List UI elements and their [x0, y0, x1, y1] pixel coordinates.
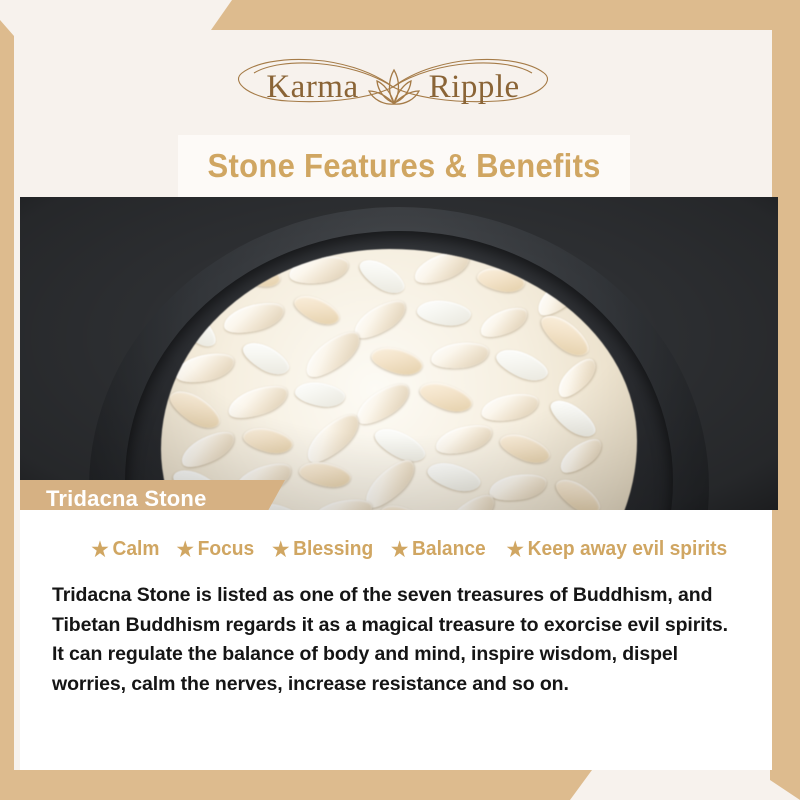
benefit-label: Balance — [412, 538, 486, 561]
frame-bottom-band — [0, 770, 800, 800]
star-icon: ★ — [391, 540, 408, 560]
lotus-icon — [363, 60, 425, 114]
stone-name-badge: Tridacna Stone — [20, 480, 285, 510]
logo-lockup: Karma Ripple — [266, 60, 519, 114]
benefit-label: Calm — [113, 538, 160, 561]
benefit-item: ★ Blessing — [272, 538, 373, 561]
benefit-item: ★ Focus — [177, 538, 255, 561]
benefit-label: Focus — [198, 538, 255, 561]
benefit-item: ★ Keep away evil spirits — [507, 538, 728, 561]
benefit-label: Blessing — [293, 538, 373, 561]
brand-name-right: Ripple — [429, 71, 520, 104]
brand-logo: Karma Ripple — [14, 48, 772, 126]
benefit-item: ★ Balance — [391, 538, 486, 561]
description-text: Tridacna Stone is listed as one of the s… — [42, 581, 750, 700]
star-icon: ★ — [507, 540, 524, 560]
benefit-label: Keep away evil spirits — [528, 538, 728, 561]
stone-name-label: Tridacna Stone — [46, 486, 207, 510]
page-title: Stone Features & Benefits — [207, 147, 600, 185]
content-panel: ★ Calm ★ Focus ★ Blessing ★ Balance ★ — [20, 510, 772, 770]
product-photo: Tridacna Stone — [20, 197, 778, 510]
brand-name-left: Karma — [266, 71, 358, 104]
benefit-item: ★ Calm — [92, 538, 160, 561]
benefits-row: ★ Calm ★ Focus ★ Blessing ★ Balance ★ — [42, 538, 750, 561]
infographic-page: Karma Ripple Stone Fea — [0, 0, 800, 800]
inner-canvas: Karma Ripple Stone Fea — [14, 30, 772, 770]
star-icon: ★ — [92, 540, 109, 560]
title-banner: Stone Features & Benefits — [178, 135, 630, 197]
star-icon: ★ — [272, 540, 289, 560]
frame-top-band — [0, 0, 800, 30]
star-icon: ★ — [177, 540, 194, 560]
